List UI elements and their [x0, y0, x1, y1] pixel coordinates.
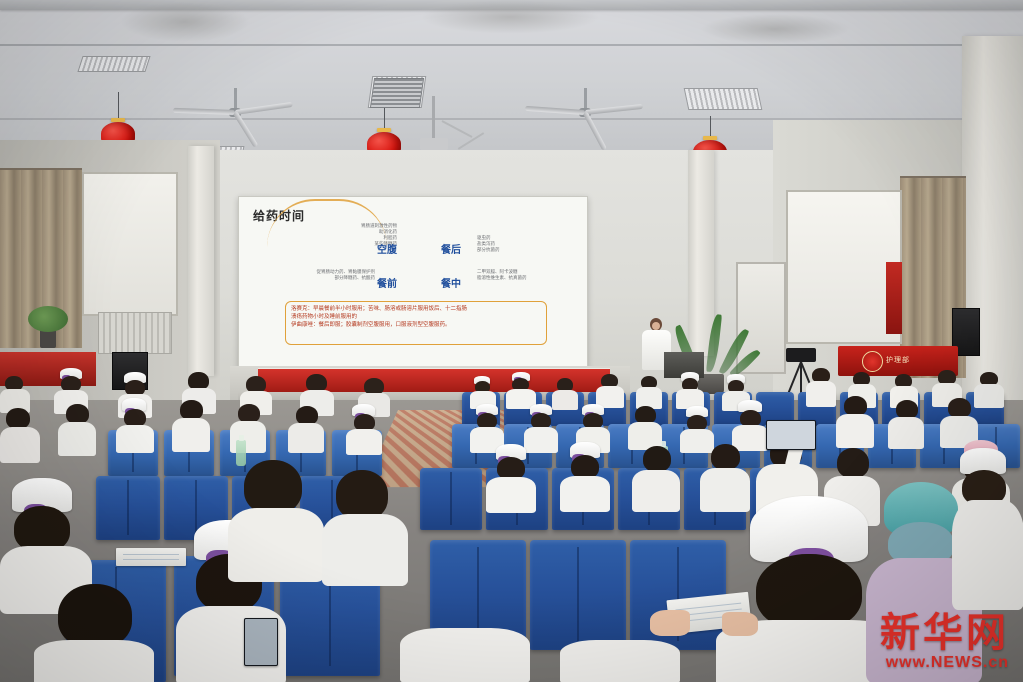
audience-person — [628, 406, 662, 448]
notebook-line — [123, 559, 179, 560]
person-body — [228, 508, 324, 582]
audience-person — [974, 372, 1004, 406]
chair — [420, 468, 482, 530]
person-body — [288, 423, 324, 453]
fan-rod — [234, 88, 237, 110]
audience-person — [680, 406, 714, 448]
ceiling-fan — [170, 88, 300, 128]
audience-person — [596, 374, 624, 406]
person-head — [711, 444, 740, 470]
audience-person — [172, 400, 210, 450]
audience-person — [632, 446, 680, 510]
audience-person — [486, 444, 536, 510]
audience-person — [0, 408, 40, 460]
fan-blade — [525, 106, 585, 115]
slide-content: 给药时间 胃肠道刺激性药物 助消化药 利胆药 某些降糖药 空腹 餐后 驱虫药 盐… — [239, 197, 587, 367]
window — [82, 172, 178, 316]
ceiling-air-vent — [370, 78, 424, 108]
person-body — [34, 640, 154, 682]
window — [786, 190, 902, 344]
fan-blade — [235, 102, 293, 115]
person-head — [6, 408, 30, 429]
ceiling-stain — [420, 0, 600, 34]
person-head — [756, 554, 862, 630]
person-body — [0, 427, 40, 463]
ceiling-light-panel — [77, 56, 150, 72]
person-body — [632, 470, 680, 512]
projector — [420, 138, 448, 150]
chair — [530, 540, 626, 650]
watermark: 新华网 www.NEWS.cn — [880, 612, 1009, 672]
banner-seal-icon — [862, 351, 883, 372]
person-head — [66, 404, 89, 424]
person-body — [952, 500, 1023, 610]
ceiling-light-panel — [684, 88, 763, 110]
photograph: 给药时间 胃肠道刺激性药物 助消化药 利胆药 某些降糖药 空腹 餐后 驱虫药 盐… — [0, 0, 1023, 682]
person-body — [346, 429, 382, 455]
phone-screen — [767, 421, 815, 449]
person-body — [888, 417, 924, 449]
slide-cell-after-meal: 餐后 — [441, 241, 461, 256]
slide-note-box: 洛赛克：早晨餐前半小时服用；苦味、肠溶或肠溶片服用饭后、十二指肠 溃疡药物小时及… — [285, 301, 547, 345]
audience-person — [116, 398, 154, 450]
audience-person — [636, 376, 662, 406]
ceiling-seam — [0, 44, 1023, 46]
bottle-neck — [239, 435, 244, 441]
audience-person — [346, 404, 382, 450]
person-head — [643, 446, 671, 472]
smartphone — [244, 618, 278, 666]
notebook-line — [123, 554, 179, 555]
fan-rod — [584, 88, 587, 110]
watermark-brand: 新华网 — [880, 612, 1009, 654]
person-body — [116, 425, 154, 453]
hand — [650, 610, 690, 636]
presenter-face — [652, 322, 660, 330]
person-body — [836, 414, 874, 448]
audience-person — [228, 460, 324, 578]
wall-pillar — [188, 146, 214, 376]
audience-person — [400, 628, 530, 682]
ceiling-stain — [700, 14, 850, 44]
person-body — [974, 384, 1004, 408]
fan-blade — [173, 108, 235, 115]
audience-person — [676, 372, 704, 406]
person-body — [806, 381, 836, 407]
person-head — [837, 448, 869, 478]
person-head — [336, 470, 388, 520]
lantern-wire — [384, 108, 385, 130]
fan-blade — [585, 104, 643, 115]
audience-person — [288, 406, 324, 450]
chair-seam — [450, 472, 452, 525]
slide-left-text-bottom: 促胃肠动力药、胃黏膜保护剂 部分降糖药、抗酸药 — [263, 269, 375, 281]
audience-person — [0, 376, 30, 410]
audience-person — [524, 404, 558, 448]
audience-person — [322, 470, 408, 584]
person-head — [948, 398, 971, 418]
person-head — [180, 400, 203, 420]
projection-screen: 给药时间 胃肠道刺激性药物 助消化药 利胆药 某些降糖药 空腹 餐后 驱虫药 盐… — [238, 196, 588, 368]
person-body — [58, 422, 96, 456]
slide-right-text-bottom: 二甲双胍、阿卡波糖 脂溶性维生素、抗真菌药 — [477, 269, 561, 281]
audience-person — [58, 404, 96, 454]
wall-pillar — [962, 36, 1023, 416]
watermark-url: www.NEWS.cn — [880, 654, 1009, 672]
audience-person — [888, 400, 924, 448]
audience-person — [836, 396, 874, 448]
person-body — [172, 418, 210, 452]
red-flag — [886, 262, 902, 334]
audience-person — [470, 376, 496, 406]
slide-cell-during-meal: 餐中 — [441, 275, 461, 290]
person-body — [400, 628, 530, 682]
chair-seam — [127, 480, 129, 535]
chair-seam — [477, 547, 479, 642]
wall-radiator — [98, 312, 172, 354]
audience-person — [470, 404, 504, 448]
slide-right-text-top: 驱虫药 盐类泻药 部分抗菌药 — [477, 235, 547, 253]
slide-cell-before-meal: 餐前 — [377, 275, 397, 290]
chair — [96, 476, 160, 540]
person-body — [560, 476, 610, 512]
banner-text: 护理部 — [886, 355, 910, 365]
hand — [722, 612, 758, 636]
audience-person — [34, 584, 154, 682]
person-body — [560, 640, 680, 682]
slide-cell-empty-stomach: 空腹 — [377, 241, 397, 256]
person-head — [844, 396, 867, 416]
audience-person — [560, 442, 610, 510]
person-body — [486, 477, 536, 513]
projector-mount — [432, 96, 435, 140]
person-body — [322, 514, 408, 586]
audience-person — [506, 372, 536, 406]
audience-person — [952, 448, 1023, 608]
camera-body — [786, 348, 816, 362]
audience-person — [806, 368, 836, 406]
ceiling-fan — [520, 88, 650, 128]
lantern-wire — [118, 92, 119, 120]
notebook — [116, 548, 186, 566]
plant-leaf — [706, 314, 722, 373]
flower-vase — [24, 304, 70, 352]
ceiling-stain — [120, 2, 250, 42]
person-head — [244, 460, 302, 514]
person-head — [58, 584, 132, 648]
flowers — [28, 306, 68, 332]
smartphone — [766, 420, 816, 450]
phone-screen — [245, 619, 277, 665]
lantern-wire — [710, 116, 711, 138]
chair-seam — [577, 547, 579, 642]
audience-person — [560, 640, 680, 682]
